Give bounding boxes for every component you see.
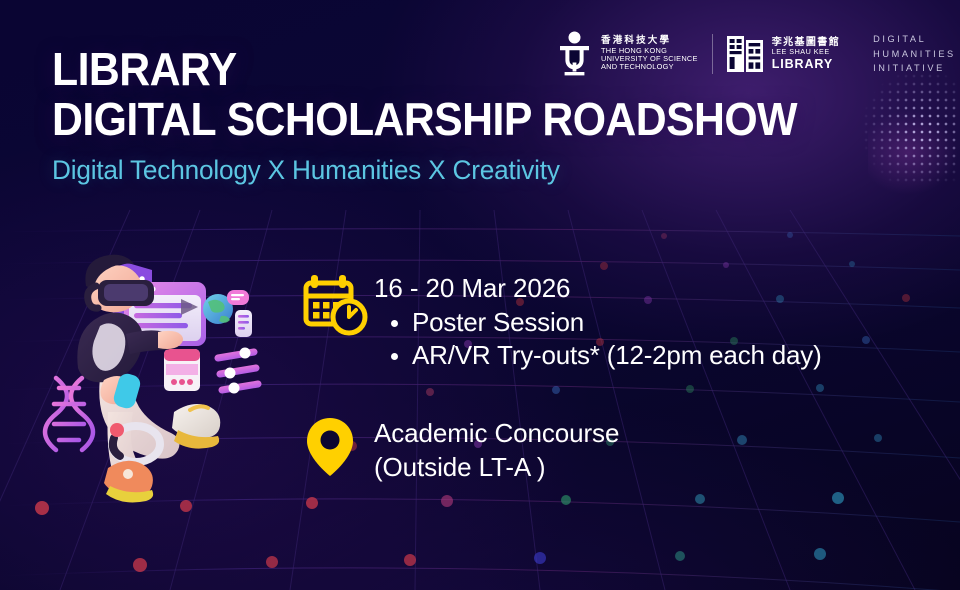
vr-headset-icon: [85, 255, 154, 313]
calendar-clock-svg: [300, 270, 370, 340]
mini-card-graphic: [235, 310, 252, 337]
session-list: Poster Session AR/VR Try-outs* (12-2pm e…: [374, 306, 822, 372]
dhi-line1: DIGITAL: [873, 32, 956, 47]
title-line-library: LIBRARY: [52, 44, 797, 94]
event-dates: 16 - 20 Mar 2026: [374, 272, 822, 305]
slider-controls-graphic: [218, 348, 258, 394]
dna-helix-icon: [45, 378, 93, 450]
dhi-line3: INITIATIVE: [873, 61, 956, 76]
digital-humanities-initiative-text: DIGITAL HUMANITIES INITIATIVE: [873, 32, 956, 77]
dot-matrix-pattern: [862, 72, 960, 184]
vr-illustration-svg: [38, 252, 296, 508]
headline-block: LIBRARY DIGITAL SCHOLARSHIP ROADSHOW Dig…: [52, 44, 853, 186]
date-text-block: 16 - 20 Mar 2026 Poster Session AR/VR Tr…: [374, 270, 822, 372]
venue-text-block: Academic Concourse (Outside LT-A ): [374, 414, 619, 484]
subtitle: Digital Technology X Humanities X Creati…: [52, 155, 829, 186]
poster-canvas: 香港科技大學 THE HONG KONG UNIVERSITY OF SCIEN…: [0, 0, 960, 590]
venue-detail: (Outside LT-A ): [374, 450, 619, 484]
sneaker-back: [172, 404, 220, 449]
event-details: 16 - 20 Mar 2026 Poster Session AR/VR Tr…: [300, 270, 920, 484]
vr-user-illustration: [38, 252, 296, 508]
title-line-roadshow: DIGITAL SCHOLARSHIP ROADSHOW: [52, 94, 797, 144]
list-item: Poster Session: [412, 306, 822, 339]
document-card-graphic: [164, 349, 200, 391]
sneaker-front: [104, 461, 153, 503]
dhi-line2: HUMANITIES: [873, 47, 956, 62]
location-pin-svg: [300, 414, 360, 480]
location-pin-icon: [300, 414, 374, 480]
venue-row: Academic Concourse (Outside LT-A ): [300, 414, 920, 484]
date-row: 16 - 20 Mar 2026 Poster Session AR/VR Tr…: [300, 270, 920, 372]
venue-name: Academic Concourse: [374, 416, 619, 450]
calendar-clock-icon: [300, 270, 374, 340]
list-item: AR/VR Try-outs* (12-2pm each day): [412, 339, 822, 372]
